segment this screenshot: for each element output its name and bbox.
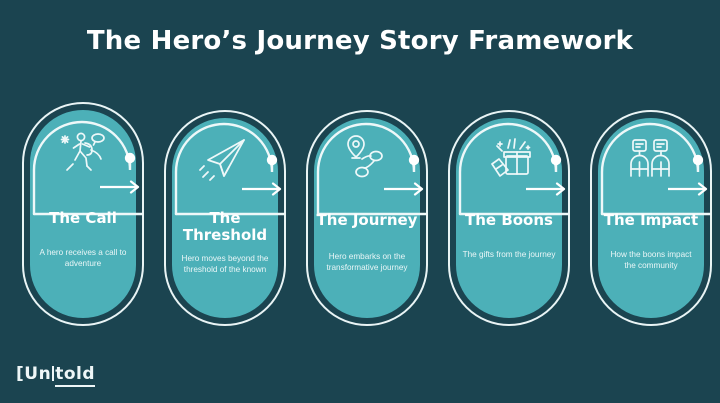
- step-description-4: The gifts from the journey: [456, 250, 562, 261]
- connector-arrow-1: [100, 176, 148, 198]
- step-heading-5: The Impact: [590, 212, 712, 229]
- logo-part-told: told: [55, 364, 95, 387]
- logo-part-un: Un: [24, 364, 51, 384]
- step-heading-2: The Threshold: [170, 210, 280, 244]
- paper-airplane-icon: [194, 132, 256, 184]
- hiker-with-backpack-icon: [52, 124, 114, 180]
- infographic-canvas: The Hero’s Journey Story Framework: [0, 0, 720, 403]
- step-description-2: Hero moves beyond the threshold of the k…: [176, 254, 274, 275]
- step-description-1: A hero receives a call to adventure: [34, 248, 132, 269]
- step-card-1[interactable]: The Call A hero receives a call to adven…: [22, 102, 144, 326]
- page-title: The Hero’s Journey Story Framework: [0, 26, 720, 56]
- step-heading-4: The Boons: [448, 212, 570, 229]
- step-card-2[interactable]: The Threshold Hero moves beyond the thre…: [164, 110, 286, 326]
- logo-divider-bar: [52, 366, 54, 381]
- untold-logo[interactable]: [Untold: [16, 364, 95, 387]
- logo-bracket: [: [16, 364, 24, 384]
- two-people-community-icon: [620, 132, 682, 184]
- step-heading-3: The Journey: [306, 212, 428, 229]
- step-heading-1: The Call: [22, 210, 144, 227]
- connector-arrow-3: [384, 178, 432, 200]
- connector-arrow-5: [668, 178, 716, 200]
- connector-arrow-4: [526, 178, 574, 200]
- step-card-3[interactable]: The Journey Hero embarks on the transfor…: [306, 110, 428, 326]
- step-description-3: Hero embarks on the transformative journ…: [316, 252, 418, 273]
- connector-arrow-2: [242, 178, 290, 200]
- step-card-4[interactable]: The Boons The gifts from the journey: [448, 110, 570, 326]
- step-description-5: How the boons impact the community: [604, 250, 698, 271]
- step-card-5[interactable]: The Impact How the boons impact the comm…: [590, 110, 712, 326]
